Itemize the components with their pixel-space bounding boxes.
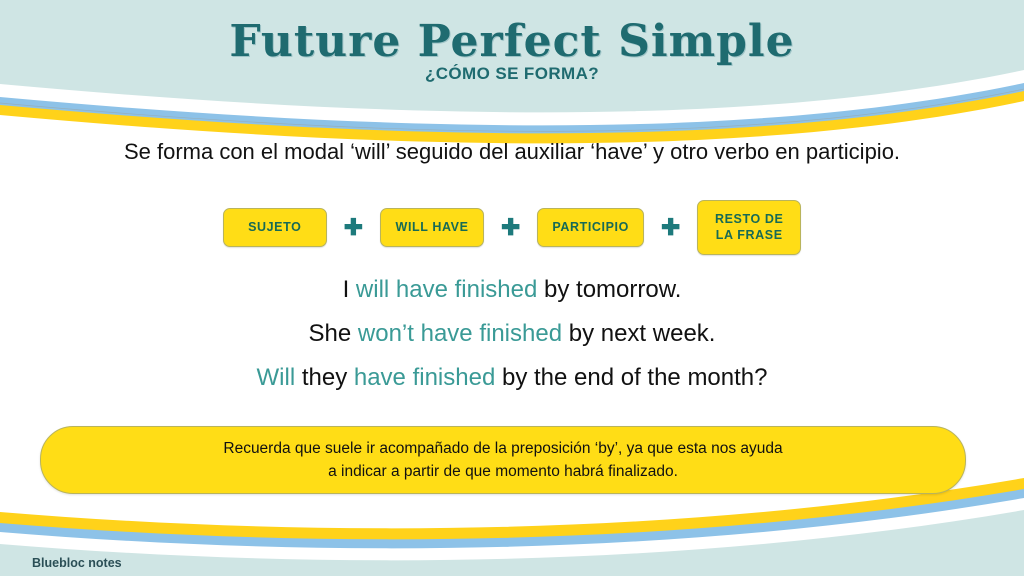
formula-box-resto-de-la-frase: RESTO DE LA FRASE (697, 200, 801, 255)
plus-icon: ✚ (644, 216, 697, 239)
sentence-part-highlight: will have finished (356, 276, 537, 303)
footer-white-band (0, 498, 1024, 562)
formula-box-label-line1: RESTO DE (715, 212, 783, 226)
slide-header: Future Perfect Simple ¿CÓMO SE FORMA? (0, 0, 1024, 105)
formula-box-label: SUJETO (248, 220, 301, 234)
page-title: Future Perfect Simple (0, 16, 1024, 67)
reminder-note-box: Recuerda que suele ir acompañado de la p… (40, 426, 966, 494)
formula-box-label-line2: LA FRASE (716, 228, 783, 242)
sentence-part-plain: by next week. (562, 320, 715, 347)
formula-box-label: WILL HAVE (396, 220, 469, 234)
sentence-part-highlight: Will (257, 364, 296, 391)
sentence-part-plain: She (309, 320, 358, 347)
reminder-note-text: Recuerda que suele ir acompañado de la p… (193, 437, 812, 484)
plus-icon: ✚ (484, 216, 537, 239)
reminder-note-line2: a indicar a partir de que momento habrá … (328, 463, 678, 480)
examples-list: I will have finished by tomorrow. She wo… (0, 276, 1024, 408)
sentence-part-plain: I (343, 276, 356, 303)
formula-box-will-have: WILL HAVE (380, 208, 484, 248)
formula-box-label: PARTICIPIO (552, 220, 629, 234)
example-sentence-2: She won’t have finished by next week. (0, 320, 1024, 348)
formula-row: SUJETO ✚ WILL HAVE ✚ PARTICIPIO ✚ RESTO … (0, 200, 1024, 255)
reminder-note-line1: Recuerda que suele ir acompañado de la p… (223, 440, 782, 457)
sentence-part-highlight: won’t have finished (358, 320, 562, 347)
sentence-part-plain: by the end of the month? (495, 364, 767, 391)
sentence-part-highlight: have finished (354, 364, 495, 391)
sentence-part-plain: they (295, 364, 354, 391)
intro-text: Se forma con el modal ‘will’ seguido del… (0, 139, 1024, 165)
example-sentence-3: Will they have finished by the end of th… (0, 364, 1024, 392)
plus-icon: ✚ (327, 216, 380, 239)
footer-hairline (0, 490, 1024, 540)
footer-teal-shape (0, 510, 1024, 576)
page-subtitle: ¿CÓMO SE FORMA? (0, 64, 1024, 84)
sentence-part-plain: by tomorrow. (537, 276, 681, 303)
example-sentence-1: I will have finished by tomorrow. (0, 276, 1024, 304)
footer-brand-label: Bluebloc notes (32, 556, 122, 570)
formula-box-sujeto: SUJETO (223, 208, 327, 248)
footer-blue-band (0, 489, 1024, 550)
formula-box-participio: PARTICIPIO (537, 208, 644, 248)
slide-canvas: Future Perfect Simple ¿CÓMO SE FORMA? Se… (0, 0, 1024, 576)
